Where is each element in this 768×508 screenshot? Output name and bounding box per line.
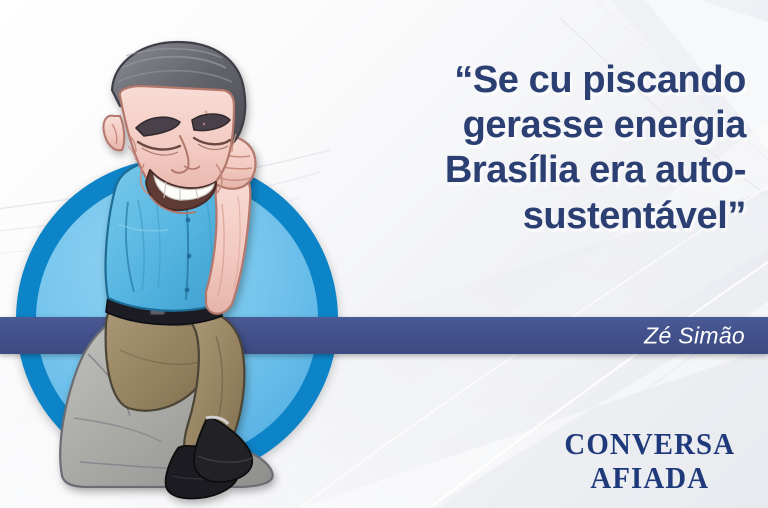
quote-card: Zé Simão	[0, 0, 768, 508]
quote-line-2: gerasse energia	[346, 103, 746, 148]
quote-line-3: Brasília era auto-	[346, 148, 746, 193]
brand-logo: CONVERSA AFIADA	[558, 427, 742, 494]
author-name: Zé Simão	[644, 322, 745, 349]
quote-line-1: “Se cu piscando	[346, 58, 746, 103]
quote-line-4: sustentável”	[346, 194, 746, 239]
brand-logo-line-2: AFIADA	[565, 461, 736, 494]
brand-logo-line-1: CONVERSA	[565, 427, 736, 460]
quote-text: “Se cu piscando gerasse energia Brasília…	[346, 58, 746, 239]
caricature-illustration	[10, 24, 340, 508]
